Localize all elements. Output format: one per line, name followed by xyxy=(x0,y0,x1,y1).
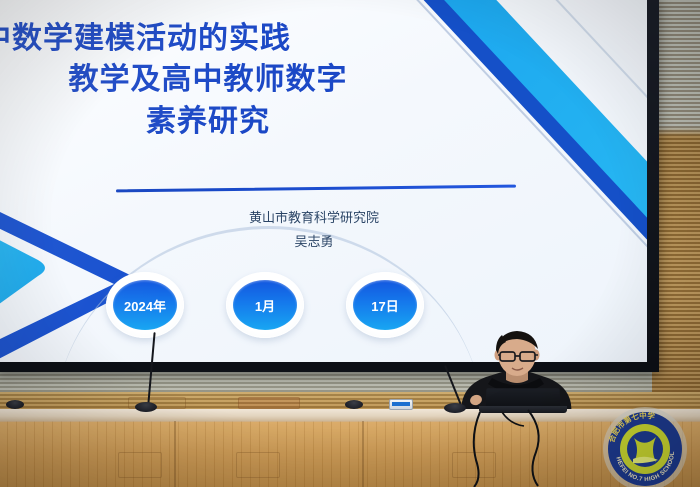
date-circle-month: 1月 xyxy=(233,280,297,330)
presentation-slide: 高中数学建模活动的实践 教学及高中教师数字 素养研究 黄山市教育科学研究院 吴志… xyxy=(0,0,647,362)
slide-title-line-1: 高中数学建模活动的实践 xyxy=(0,18,458,59)
cable-bundle xyxy=(440,408,560,487)
podium-seam-mid xyxy=(362,421,364,487)
slide-title-line-3: 素养研究 xyxy=(0,101,458,142)
podium-seam-left xyxy=(174,421,176,487)
date-circle-month-wrap: 1月 xyxy=(226,272,304,338)
date-circle-day-wrap: 17日 xyxy=(346,272,424,338)
date-circle-year-wrap: 2024年 xyxy=(106,272,184,338)
presenter-name: 吴志勇 xyxy=(114,230,514,254)
podium-inset-panel-1 xyxy=(118,452,162,478)
control-device xyxy=(389,399,413,410)
slide-subtitle-block: 黄山市教育科学研究院 吴志勇 xyxy=(114,206,514,254)
date-circle-group: 2024年 1月 17日 xyxy=(106,272,424,338)
wall-trim-slat-right xyxy=(238,397,300,409)
device-display xyxy=(392,402,410,406)
date-circle-year: 2024年 xyxy=(113,280,177,330)
screenshot-root: 高中数学建模活动的实践 教学及高中教师数字 素养研究 黄山市教育科学研究院 吴志… xyxy=(0,0,700,487)
podium-front-panel xyxy=(0,421,700,487)
microphone-base-left xyxy=(135,402,157,412)
microphone-base-far-left xyxy=(6,400,24,409)
slide-title: 高中数学建模活动的实践 教学及高中教师数字 素养研究 xyxy=(0,18,458,142)
date-circle-day: 17日 xyxy=(353,280,417,330)
podium-inset-panel-2 xyxy=(236,452,280,478)
school-logo: 合肥市第七中学 HEFEI NO.7 HIGH SCHOOL xyxy=(600,404,690,487)
organization-name: 黄山市教育科学研究院 xyxy=(114,206,514,230)
slide-title-line-2: 教学及高中教师数字 xyxy=(0,59,458,100)
microphone-base-center xyxy=(345,400,363,409)
projection-screen-bezel: 高中数学建模活动的实践 教学及高中教师数字 素养研究 黄山市教育科学研究院 吴志… xyxy=(0,0,659,372)
